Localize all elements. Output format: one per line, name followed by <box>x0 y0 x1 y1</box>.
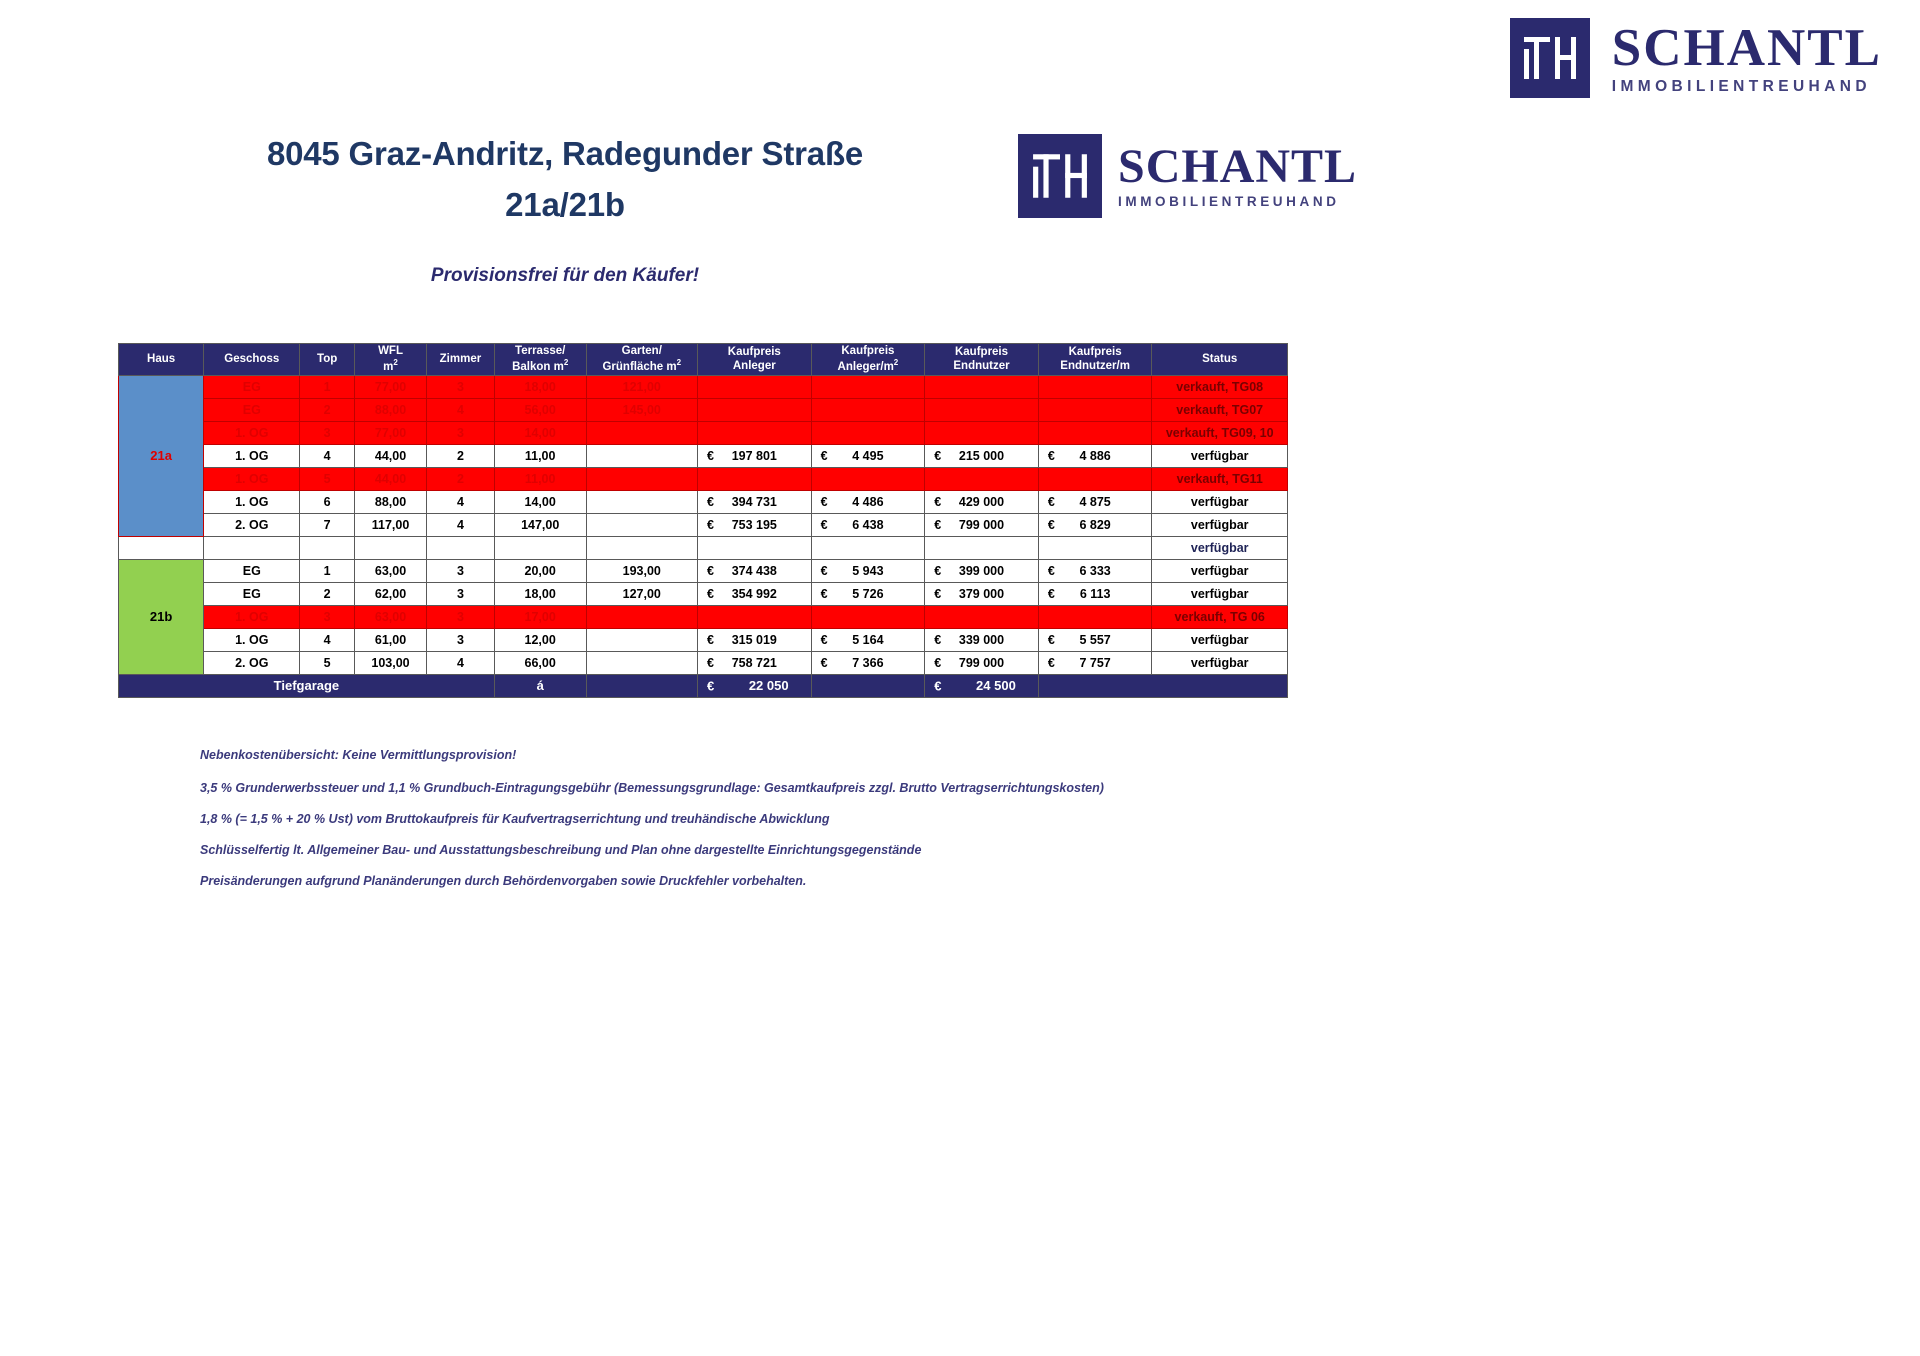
cell-geschoss: 1. OG <box>204 421 300 444</box>
status-badge: verfügbar <box>1152 444 1288 467</box>
cell-wfl: 77,00 <box>354 421 426 444</box>
cell-wfl: 61,00 <box>354 628 426 651</box>
col-header-geschoss: Geschoss <box>204 344 300 376</box>
cell-wfl: 44,00 <box>354 467 426 490</box>
currency-symbol: € <box>707 656 714 670</box>
cell-garten <box>586 467 697 490</box>
ith-logo-mark-inline <box>1018 134 1102 218</box>
status-badge: verkauft, TG07 <box>1152 398 1288 421</box>
cell-zimmer: 3 <box>427 582 495 605</box>
note-line: 1,8 % (= 1,5 % + 20 % Ust) vom Bruttokau… <box>200 812 1300 827</box>
cell-geschoss: 1. OG <box>204 490 300 513</box>
currency-symbol: € <box>821 564 828 578</box>
cell-kp_endnutzer_m: €5 557 <box>1038 628 1152 651</box>
cell-garten: 193,00 <box>586 559 697 582</box>
tiefgarage-price-anleger: €22 050 <box>697 674 811 697</box>
cell-kp_endnutzer_m: €4 875 <box>1038 490 1152 513</box>
currency-symbol: € <box>1048 495 1055 509</box>
col-header-garten: Garten/Grünfläche m2 <box>586 344 697 376</box>
corner-brand-logo: SCHANTL IMMOBILIENTREUHAND <box>1510 18 1882 98</box>
cell-terrasse: 18,00 <box>494 582 586 605</box>
page-title-line1: 8045 Graz-Andritz, Radegunder Straße <box>267 135 863 172</box>
cell-geschoss: 2. OG <box>204 513 300 536</box>
cell-terrasse: 18,00 <box>494 375 586 398</box>
cell-kp_anleger <box>697 605 811 628</box>
cell-wfl: 62,00 <box>354 582 426 605</box>
cell-kp_endnutzer: €379 000 <box>925 582 1039 605</box>
currency-symbol: € <box>934 587 941 601</box>
cell-kp_endnutzer <box>925 605 1039 628</box>
cell-geschoss <box>204 536 300 559</box>
cell-garten: 121,00 <box>586 375 697 398</box>
cell-garten <box>586 513 697 536</box>
cell-top: 3 <box>300 421 355 444</box>
table-row: 2. OG7117,004147,00€753 195€6 438€799 00… <box>119 513 1288 536</box>
cell-kp_anleger <box>697 421 811 444</box>
house-label-empty <box>119 536 204 559</box>
cell-terrasse: 56,00 <box>494 398 586 421</box>
cell-kp_anleger <box>697 398 811 421</box>
cell-kp_anleger_m2: €4 486 <box>811 490 925 513</box>
cell-kp_anleger_m2 <box>811 536 925 559</box>
cell-garten: 127,00 <box>586 582 697 605</box>
status-badge: verkauft, TG08 <box>1152 375 1288 398</box>
currency-symbol: € <box>707 518 714 532</box>
cell-top: 2 <box>300 582 355 605</box>
currency-symbol: € <box>707 564 714 578</box>
col-header-top: Top <box>300 344 355 376</box>
cell-top: 6 <box>300 490 355 513</box>
brand-wordmark: SCHANTL IMMOBILIENTREUHAND <box>1612 22 1882 95</box>
cell-top: 5 <box>300 651 355 674</box>
currency-symbol: € <box>707 587 714 601</box>
cell-zimmer: 3 <box>427 559 495 582</box>
currency-symbol: € <box>821 449 828 463</box>
cell-kp_anleger: €753 195 <box>697 513 811 536</box>
currency-symbol: € <box>1048 449 1055 463</box>
cell-top: 1 <box>300 559 355 582</box>
cell-kp_endnutzer_m: €7 757 <box>1038 651 1152 674</box>
cell-kp_endnutzer: €215 000 <box>925 444 1039 467</box>
status-badge: verfügbar <box>1152 651 1288 674</box>
cell-kp_anleger_m2: €5 943 <box>811 559 925 582</box>
tiefgarage-row: Tiefgarageá€22 050€24 500 <box>119 674 1288 697</box>
status-badge: verfügbar <box>1152 559 1288 582</box>
cell-kp_endnutzer_m <box>1038 398 1152 421</box>
currency-symbol: € <box>707 678 714 693</box>
pricing-table-body: 21aEG177,00318,00121,00verkauft, TG08EG2… <box>119 375 1288 674</box>
cell-kp_anleger: €197 801 <box>697 444 811 467</box>
cell-kp_endnutzer_m <box>1038 536 1152 559</box>
brand-name: SCHANTL <box>1612 22 1882 75</box>
cell-wfl <box>354 536 426 559</box>
notes-block: Nebenkostenübersicht: Keine Vermittlungs… <box>200 748 1300 905</box>
cell-terrasse: 20,00 <box>494 559 586 582</box>
cell-zimmer: 3 <box>427 628 495 651</box>
cell-terrasse: 14,00 <box>494 421 586 444</box>
page-canvas: SCHANTL IMMOBILIENTREUHAND 8045 Graz-And… <box>0 0 1920 1356</box>
cell-top: 3 <box>300 605 355 628</box>
currency-symbol: € <box>934 564 941 578</box>
cell-geschoss: 1. OG <box>204 467 300 490</box>
cell-terrasse: 14,00 <box>494 490 586 513</box>
note-line: Preisänderungen aufgrund Planänderungen … <box>200 874 1300 889</box>
page-title: 8045 Graz-Andritz, Radegunder Straße 21a… <box>165 128 965 230</box>
house-label-21b: 21b <box>119 559 204 674</box>
currency-symbol: € <box>1048 564 1055 578</box>
header-row: HausGeschossTopWFLm2ZimmerTerrasse/Balko… <box>119 344 1288 376</box>
cell-zimmer: 2 <box>427 467 495 490</box>
table-row: 2. OG5103,00466,00€758 721€7 366€799 000… <box>119 651 1288 674</box>
cell-top: 5 <box>300 467 355 490</box>
cell-wfl: 117,00 <box>354 513 426 536</box>
cell-garten <box>586 421 697 444</box>
cell-terrasse: 147,00 <box>494 513 586 536</box>
status-badge: verfügbar <box>1152 513 1288 536</box>
cell-kp_endnutzer_m <box>1038 421 1152 444</box>
cell-wfl: 103,00 <box>354 651 426 674</box>
cell-garten <box>586 651 697 674</box>
col-header-haus: Haus <box>119 344 204 376</box>
currency-symbol: € <box>934 518 941 532</box>
cell-kp_endnutzer: €799 000 <box>925 651 1039 674</box>
tiefgarage-spacer-2 <box>811 674 925 697</box>
cell-terrasse: 66,00 <box>494 651 586 674</box>
cell-terrasse <box>494 536 586 559</box>
cell-kp_endnutzer_m: €6 113 <box>1038 582 1152 605</box>
cell-kp_endnutzer: €799 000 <box>925 513 1039 536</box>
tiefgarage-price-endnutzer: €24 500 <box>925 674 1039 697</box>
cell-kp_endnutzer_m <box>1038 375 1152 398</box>
col-header-status: Status <box>1152 344 1288 376</box>
note-line: 3,5 % Grunderwerbssteuer und 1,1 % Grund… <box>200 781 1300 796</box>
cell-geschoss: EG <box>204 375 300 398</box>
cell-kp_anleger_m2 <box>811 398 925 421</box>
cell-kp_endnutzer_m: €6 829 <box>1038 513 1152 536</box>
cell-kp_endnutzer: €339 000 <box>925 628 1039 651</box>
cell-zimmer: 3 <box>427 421 495 444</box>
table-row: EG288,00456,00145,00verkauft, TG07 <box>119 398 1288 421</box>
col-header-kp_endnutzer_m: KaufpreisEndnutzer/m <box>1038 344 1152 376</box>
currency-symbol: € <box>1048 633 1055 647</box>
cell-wfl: 77,00 <box>354 375 426 398</box>
cell-kp_anleger: €758 721 <box>697 651 811 674</box>
cell-geschoss: 1. OG <box>204 444 300 467</box>
table-row: 21bEG163,00320,00193,00€374 438€5 943€39… <box>119 559 1288 582</box>
cell-kp_anleger_m2: €4 495 <box>811 444 925 467</box>
brand-tagline: IMMOBILIENTREUHAND <box>1612 79 1882 95</box>
col-header-wfl: WFLm2 <box>354 344 426 376</box>
table-row: verfügbar <box>119 536 1288 559</box>
col-header-kp_anleger_m2: KaufpreisAnleger/m2 <box>811 344 925 376</box>
cell-kp_anleger_m2 <box>811 605 925 628</box>
cell-garten <box>586 605 697 628</box>
cell-top: 4 <box>300 444 355 467</box>
page-title-line2: 21a/21b <box>505 186 625 223</box>
cell-geschoss: EG <box>204 559 300 582</box>
pricing-table-header: HausGeschossTopWFLm2ZimmerTerrasse/Balko… <box>119 344 1288 376</box>
cell-kp_anleger <box>697 467 811 490</box>
currency-symbol: € <box>821 633 828 647</box>
cell-garten <box>586 490 697 513</box>
cell-wfl: 88,00 <box>354 398 426 421</box>
cell-geschoss: 2. OG <box>204 651 300 674</box>
cell-zimmer <box>427 536 495 559</box>
col-header-kp_anleger: KaufpreisAnleger <box>697 344 811 376</box>
cell-kp_endnutzer_m <box>1038 605 1152 628</box>
tiefgarage-label: Tiefgarage <box>119 674 495 697</box>
cell-zimmer: 3 <box>427 605 495 628</box>
cell-garten: 145,00 <box>586 398 697 421</box>
cell-wfl: 63,00 <box>354 605 426 628</box>
status-badge: verfügbar <box>1152 490 1288 513</box>
cell-zimmer: 3 <box>427 375 495 398</box>
cell-kp_endnutzer_m: €6 333 <box>1038 559 1152 582</box>
cell-geschoss: EG <box>204 582 300 605</box>
currency-symbol: € <box>707 495 714 509</box>
status-badge: verkauft, TG 06 <box>1152 605 1288 628</box>
cell-zimmer: 4 <box>427 490 495 513</box>
cell-terrasse: 11,00 <box>494 467 586 490</box>
cell-geschoss: 1. OG <box>204 628 300 651</box>
status-badge: verfügbar <box>1152 628 1288 651</box>
cell-top: 1 <box>300 375 355 398</box>
table-row: 1. OG461,00312,00€315 019€5 164€339 000€… <box>119 628 1288 651</box>
cell-zimmer: 4 <box>427 398 495 421</box>
cell-kp_endnutzer <box>925 467 1039 490</box>
currency-symbol: € <box>821 518 828 532</box>
table-row: 1. OG688,00414,00€394 731€4 486€429 000€… <box>119 490 1288 513</box>
currency-symbol: € <box>934 656 941 670</box>
brand-tagline-inline: IMMOBILIENTREUHAND <box>1118 195 1357 209</box>
cell-kp_anleger: €315 019 <box>697 628 811 651</box>
cell-zimmer: 4 <box>427 651 495 674</box>
currency-symbol: € <box>821 587 828 601</box>
currency-symbol: € <box>934 678 941 693</box>
cell-kp_endnutzer: €429 000 <box>925 490 1039 513</box>
cell-kp_anleger: €374 438 <box>697 559 811 582</box>
inline-brand-logo: SCHANTL IMMOBILIENTREUHAND <box>1018 134 1357 218</box>
note-line: Schlüsselfertig lt. Allgemeiner Bau- und… <box>200 843 1300 858</box>
cell-kp_endnutzer <box>925 398 1039 421</box>
status-badge: verkauft, TG09, 10 <box>1152 421 1288 444</box>
cell-kp_endnutzer <box>925 536 1039 559</box>
brand-wordmark-inline: SCHANTL IMMOBILIENTREUHAND <box>1118 143 1357 209</box>
table-row: EG262,00318,00127,00€354 992€5 726€379 0… <box>119 582 1288 605</box>
cell-kp_endnutzer <box>925 421 1039 444</box>
cell-terrasse: 12,00 <box>494 628 586 651</box>
cell-kp_anleger_m2: €5 726 <box>811 582 925 605</box>
currency-symbol: € <box>707 449 714 463</box>
cell-kp_anleger: €394 731 <box>697 490 811 513</box>
table-row: 1. OG544,00211,00verkauft, TG11 <box>119 467 1288 490</box>
cell-kp_anleger_m2 <box>811 467 925 490</box>
cell-kp_anleger_m2 <box>811 375 925 398</box>
table-row: 21aEG177,00318,00121,00verkauft, TG08 <box>119 375 1288 398</box>
cell-kp_anleger_m2: €7 366 <box>811 651 925 674</box>
col-header-kp_endnutzer: KaufpreisEndnutzer <box>925 344 1039 376</box>
cell-kp_anleger_m2: €5 164 <box>811 628 925 651</box>
status-badge: verfügbar <box>1152 536 1288 559</box>
ith-logo-mark <box>1510 18 1590 98</box>
status-badge: verfügbar <box>1152 582 1288 605</box>
cell-top: 7 <box>300 513 355 536</box>
currency-symbol: € <box>1048 518 1055 532</box>
cell-wfl: 63,00 <box>354 559 426 582</box>
tiefgarage-count: á <box>494 674 586 697</box>
currency-symbol: € <box>934 449 941 463</box>
currency-symbol: € <box>821 656 828 670</box>
cell-geschoss: EG <box>204 398 300 421</box>
currency-symbol: € <box>934 633 941 647</box>
note-line: Nebenkostenübersicht: Keine Vermittlungs… <box>200 748 1300 763</box>
currency-symbol: € <box>707 633 714 647</box>
cell-kp_anleger <box>697 536 811 559</box>
cell-garten <box>586 444 697 467</box>
house-label-21a: 21a <box>119 375 204 536</box>
cell-zimmer: 2 <box>427 444 495 467</box>
cell-top: 4 <box>300 628 355 651</box>
col-header-zimmer: Zimmer <box>427 344 495 376</box>
table-row: 1. OG363,00317,00verkauft, TG 06 <box>119 605 1288 628</box>
currency-symbol: € <box>1048 656 1055 670</box>
col-header-terrasse: Terrasse/Balkon m2 <box>494 344 586 376</box>
cell-kp_endnutzer <box>925 375 1039 398</box>
page-subtitle: Provisionsfrei für den Käufer! <box>165 265 965 287</box>
cell-garten <box>586 628 697 651</box>
pricing-table-footer: Tiefgarageá€22 050€24 500 <box>119 674 1288 697</box>
cell-wfl: 88,00 <box>354 490 426 513</box>
pricing-table-wrapper: HausGeschossTopWFLm2ZimmerTerrasse/Balko… <box>118 343 1288 698</box>
cell-kp_endnutzer: €399 000 <box>925 559 1039 582</box>
tiefgarage-spacer-1 <box>586 674 697 697</box>
cell-kp_anleger <box>697 375 811 398</box>
table-row: 1. OG377,00314,00verkauft, TG09, 10 <box>119 421 1288 444</box>
table-row: 1. OG444,00211,00€197 801€4 495€215 000€… <box>119 444 1288 467</box>
pricing-table: HausGeschossTopWFLm2ZimmerTerrasse/Balko… <box>118 343 1288 698</box>
currency-symbol: € <box>934 495 941 509</box>
currency-symbol: € <box>821 495 828 509</box>
cell-kp_anleger: €354 992 <box>697 582 811 605</box>
cell-zimmer: 4 <box>427 513 495 536</box>
currency-symbol: € <box>1048 587 1055 601</box>
cell-terrasse: 11,00 <box>494 444 586 467</box>
status-badge: verkauft, TG11 <box>1152 467 1288 490</box>
cell-kp_anleger_m2: €6 438 <box>811 513 925 536</box>
cell-wfl: 44,00 <box>354 444 426 467</box>
cell-kp_endnutzer_m: €4 886 <box>1038 444 1152 467</box>
cell-top: 2 <box>300 398 355 421</box>
cell-kp_anleger_m2 <box>811 421 925 444</box>
cell-geschoss: 1. OG <box>204 605 300 628</box>
tiefgarage-spacer-3 <box>1038 674 1287 697</box>
cell-top <box>300 536 355 559</box>
brand-name-inline: SCHANTL <box>1118 143 1357 191</box>
cell-kp_endnutzer_m <box>1038 467 1152 490</box>
cell-garten <box>586 536 697 559</box>
cell-terrasse: 17,00 <box>494 605 586 628</box>
